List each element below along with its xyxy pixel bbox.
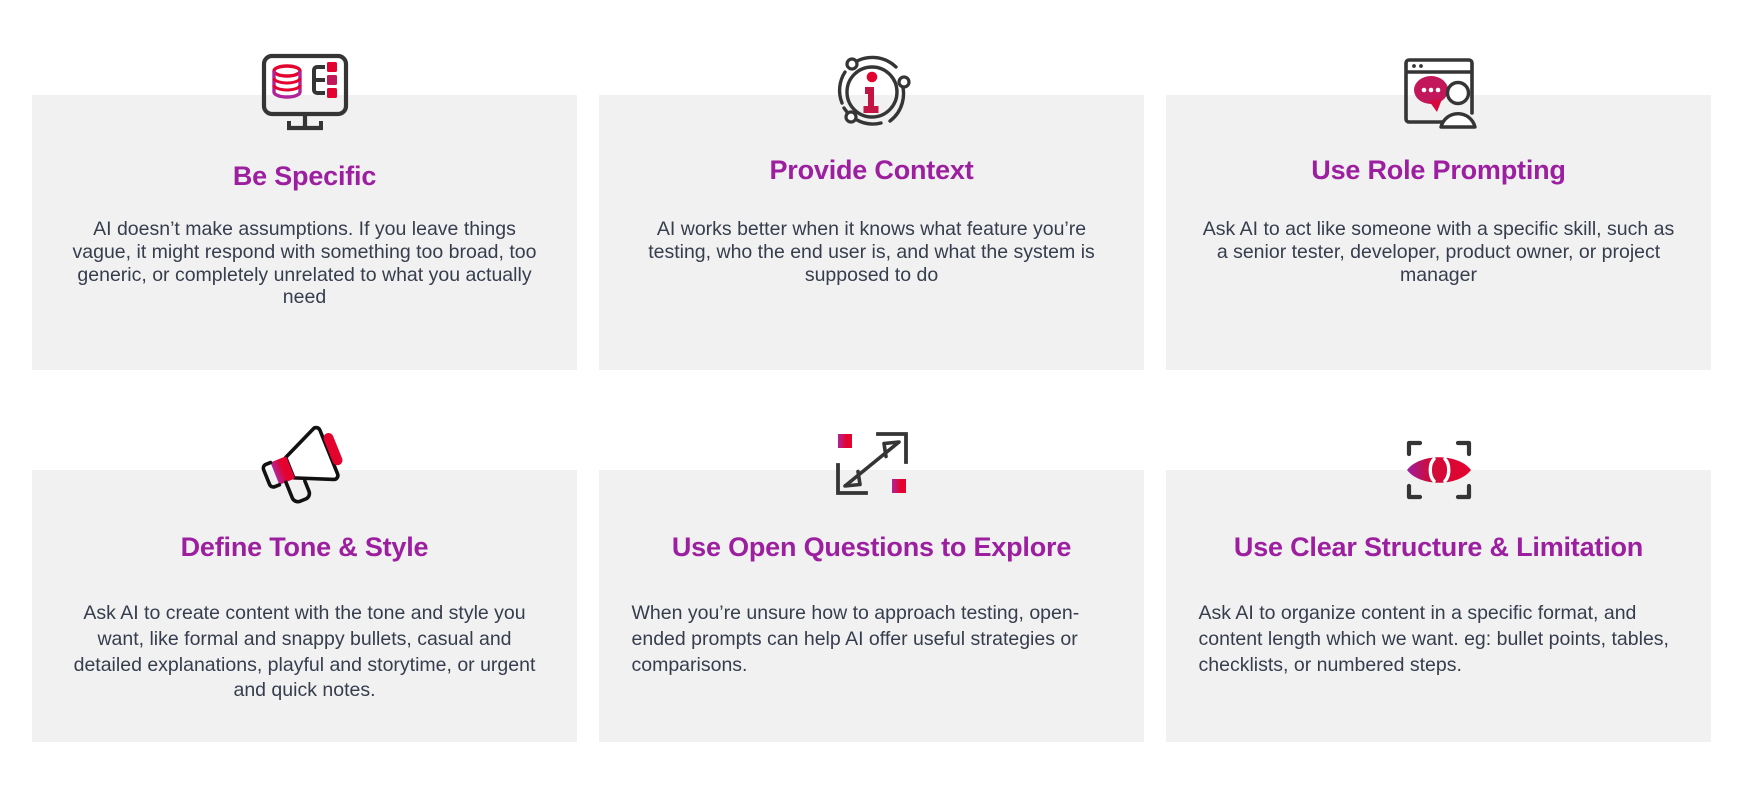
- card-title: Be Specific: [233, 161, 376, 192]
- card-title: Use Clear Structure & Limitation: [1234, 532, 1643, 563]
- card-body: AI works better when it knows what featu…: [632, 218, 1112, 286]
- eye-focus-icon: [1387, 423, 1491, 517]
- card-body: When you’re unsure how to approach testi…: [632, 601, 1112, 678]
- megaphone-icon: [253, 423, 357, 517]
- tips-grid: Be Specific AI doesn’t make assumptions.…: [32, 95, 1711, 742]
- card-title: Use Role Prompting: [1311, 155, 1565, 186]
- card-body: Ask AI to create content with the tone a…: [65, 601, 545, 704]
- tip-card-use-open-questions: Use Open Questions to Explore When you’r…: [599, 470, 1144, 742]
- card-title: Use Open Questions to Explore: [672, 532, 1071, 563]
- tip-card-use-role-prompting: Use Role Prompting Ask AI to act like so…: [1166, 95, 1711, 370]
- card-title: Define Tone & Style: [181, 532, 429, 563]
- card-body: AI doesn’t make assumptions. If you leav…: [70, 218, 540, 309]
- expand-arrows-icon: [820, 423, 924, 517]
- card-title: Provide Context: [769, 155, 973, 186]
- info-orbit-icon: [820, 48, 924, 142]
- card-body: Ask AI to organize content in a specific…: [1199, 601, 1679, 678]
- tips-board: Be Specific AI doesn’t make assumptions.…: [0, 0, 1737, 793]
- database-monitor-icon: [253, 48, 357, 142]
- card-body: Ask AI to act like someone with a specif…: [1198, 218, 1680, 286]
- browser-chat-user-icon: [1387, 48, 1491, 142]
- tip-card-use-clear-structure: Use Clear Structure & Limitation Ask AI …: [1166, 470, 1711, 742]
- tip-card-provide-context: Provide Context AI works better when it …: [599, 95, 1144, 370]
- tip-card-be-specific: Be Specific AI doesn’t make assumptions.…: [32, 95, 577, 370]
- tip-card-define-tone-style: Define Tone & Style Ask AI to create con…: [32, 470, 577, 742]
